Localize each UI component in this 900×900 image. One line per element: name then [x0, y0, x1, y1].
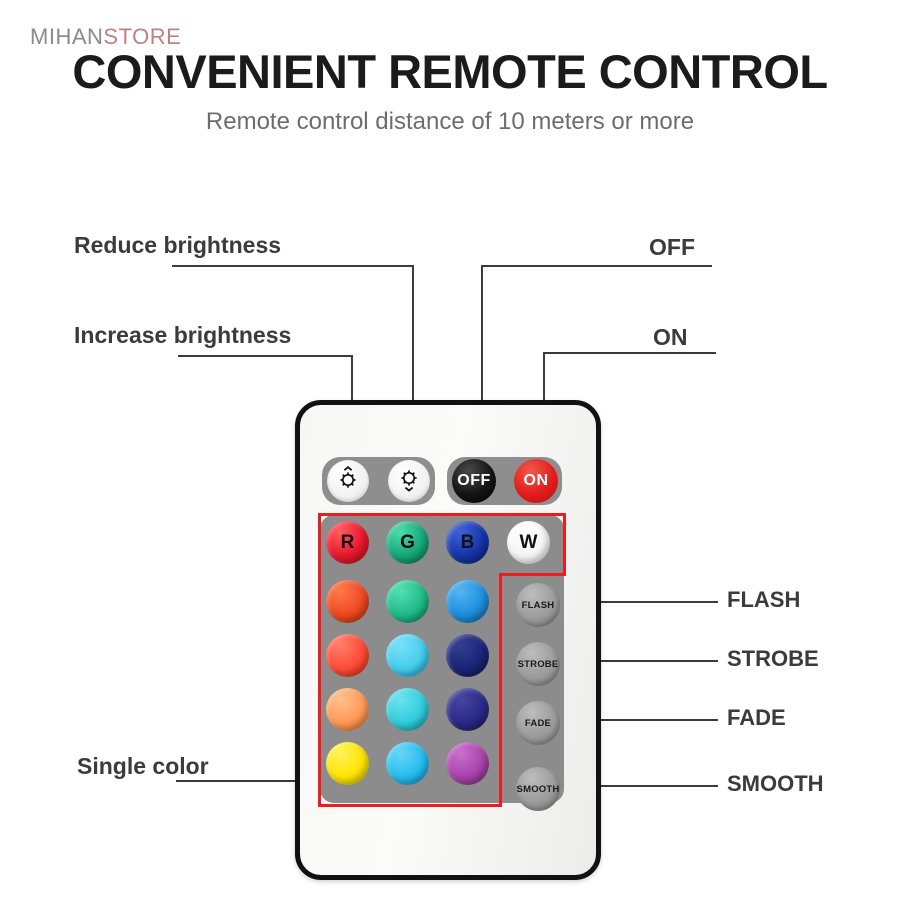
- color-navy[interactable]: [446, 634, 489, 677]
- color-yellow[interactable]: [326, 742, 369, 785]
- color-sky-blue[interactable]: [386, 742, 429, 785]
- color-azure-blue[interactable]: [446, 580, 489, 623]
- page-title: CONVENIENT REMOTE CONTROL: [0, 44, 900, 99]
- leader-increase-brightness-h: [178, 355, 353, 357]
- highlight-notch: [499, 573, 566, 576]
- leader-strobe: [594, 660, 718, 662]
- label-reduce-brightness: Reduce brightness: [74, 232, 281, 259]
- blue-button-label: B: [461, 532, 475, 554]
- fade-button[interactable]: FADE: [516, 701, 560, 745]
- flash-button-label: FLASH: [522, 600, 555, 611]
- leader-single-color: [176, 780, 308, 782]
- highlight-top: [318, 513, 566, 516]
- color-indigo[interactable]: [446, 688, 489, 731]
- smooth-button[interactable]: SMOOTH: [516, 767, 560, 811]
- off-button[interactable]: OFF: [452, 459, 496, 503]
- label-fade: FADE: [727, 705, 786, 731]
- leader-flash: [594, 601, 718, 603]
- red-button-label: R: [341, 532, 355, 554]
- highlight-left: [318, 513, 321, 807]
- leader-reduce-brightness-h: [172, 265, 414, 267]
- green-button-label: G: [400, 532, 415, 554]
- brightness-up-icon: [394, 464, 424, 498]
- label-off: OFF: [649, 234, 695, 261]
- color-cyan[interactable]: [386, 634, 429, 677]
- leader-fade: [594, 719, 718, 721]
- color-turquoise[interactable]: [386, 688, 429, 731]
- label-smooth: SMOOTH: [727, 771, 824, 797]
- color-coral-red[interactable]: [326, 634, 369, 677]
- reduce-brightness-button[interactable]: [327, 460, 369, 502]
- strobe-button[interactable]: STROBE: [516, 642, 560, 686]
- highlight-right-lower: [499, 573, 502, 807]
- leader-smooth: [594, 785, 718, 787]
- blue-button[interactable]: B: [446, 521, 489, 564]
- increase-brightness-button[interactable]: [388, 460, 430, 502]
- color-purple[interactable]: [446, 742, 489, 785]
- leader-off-h: [481, 265, 712, 267]
- color-orange-red[interactable]: [326, 580, 369, 623]
- label-single-color: Single color: [77, 753, 209, 780]
- white-button-label: W: [520, 532, 538, 554]
- strobe-button-label: STROBE: [518, 659, 559, 670]
- infographic-canvas: MIHANSTORE CONVENIENT REMOTE CONTROL Rem…: [0, 0, 900, 900]
- red-button[interactable]: R: [326, 521, 369, 564]
- remote-control-body: OFF ON R G B W: [295, 400, 601, 880]
- label-strobe: STROBE: [727, 646, 819, 672]
- on-button[interactable]: ON: [514, 459, 558, 503]
- label-on: ON: [653, 324, 688, 351]
- fade-button-label: FADE: [525, 718, 551, 729]
- label-flash: FLASH: [727, 587, 800, 613]
- label-increase-brightness: Increase brightness: [74, 322, 291, 349]
- color-sea-green[interactable]: [386, 580, 429, 623]
- green-button[interactable]: G: [386, 521, 429, 564]
- flash-button[interactable]: FLASH: [516, 583, 560, 627]
- off-button-label: OFF: [457, 473, 491, 489]
- color-peach-orange[interactable]: [326, 688, 369, 731]
- leader-on-h: [543, 352, 716, 354]
- highlight-right-upper: [563, 513, 566, 575]
- smooth-button-label: SMOOTH: [517, 784, 560, 795]
- page-subtitle: Remote control distance of 10 meters or …: [0, 108, 900, 136]
- brightness-down-icon: [333, 464, 363, 498]
- white-button[interactable]: W: [507, 521, 550, 564]
- highlight-bottom: [318, 804, 502, 807]
- on-button-label: ON: [524, 473, 549, 489]
